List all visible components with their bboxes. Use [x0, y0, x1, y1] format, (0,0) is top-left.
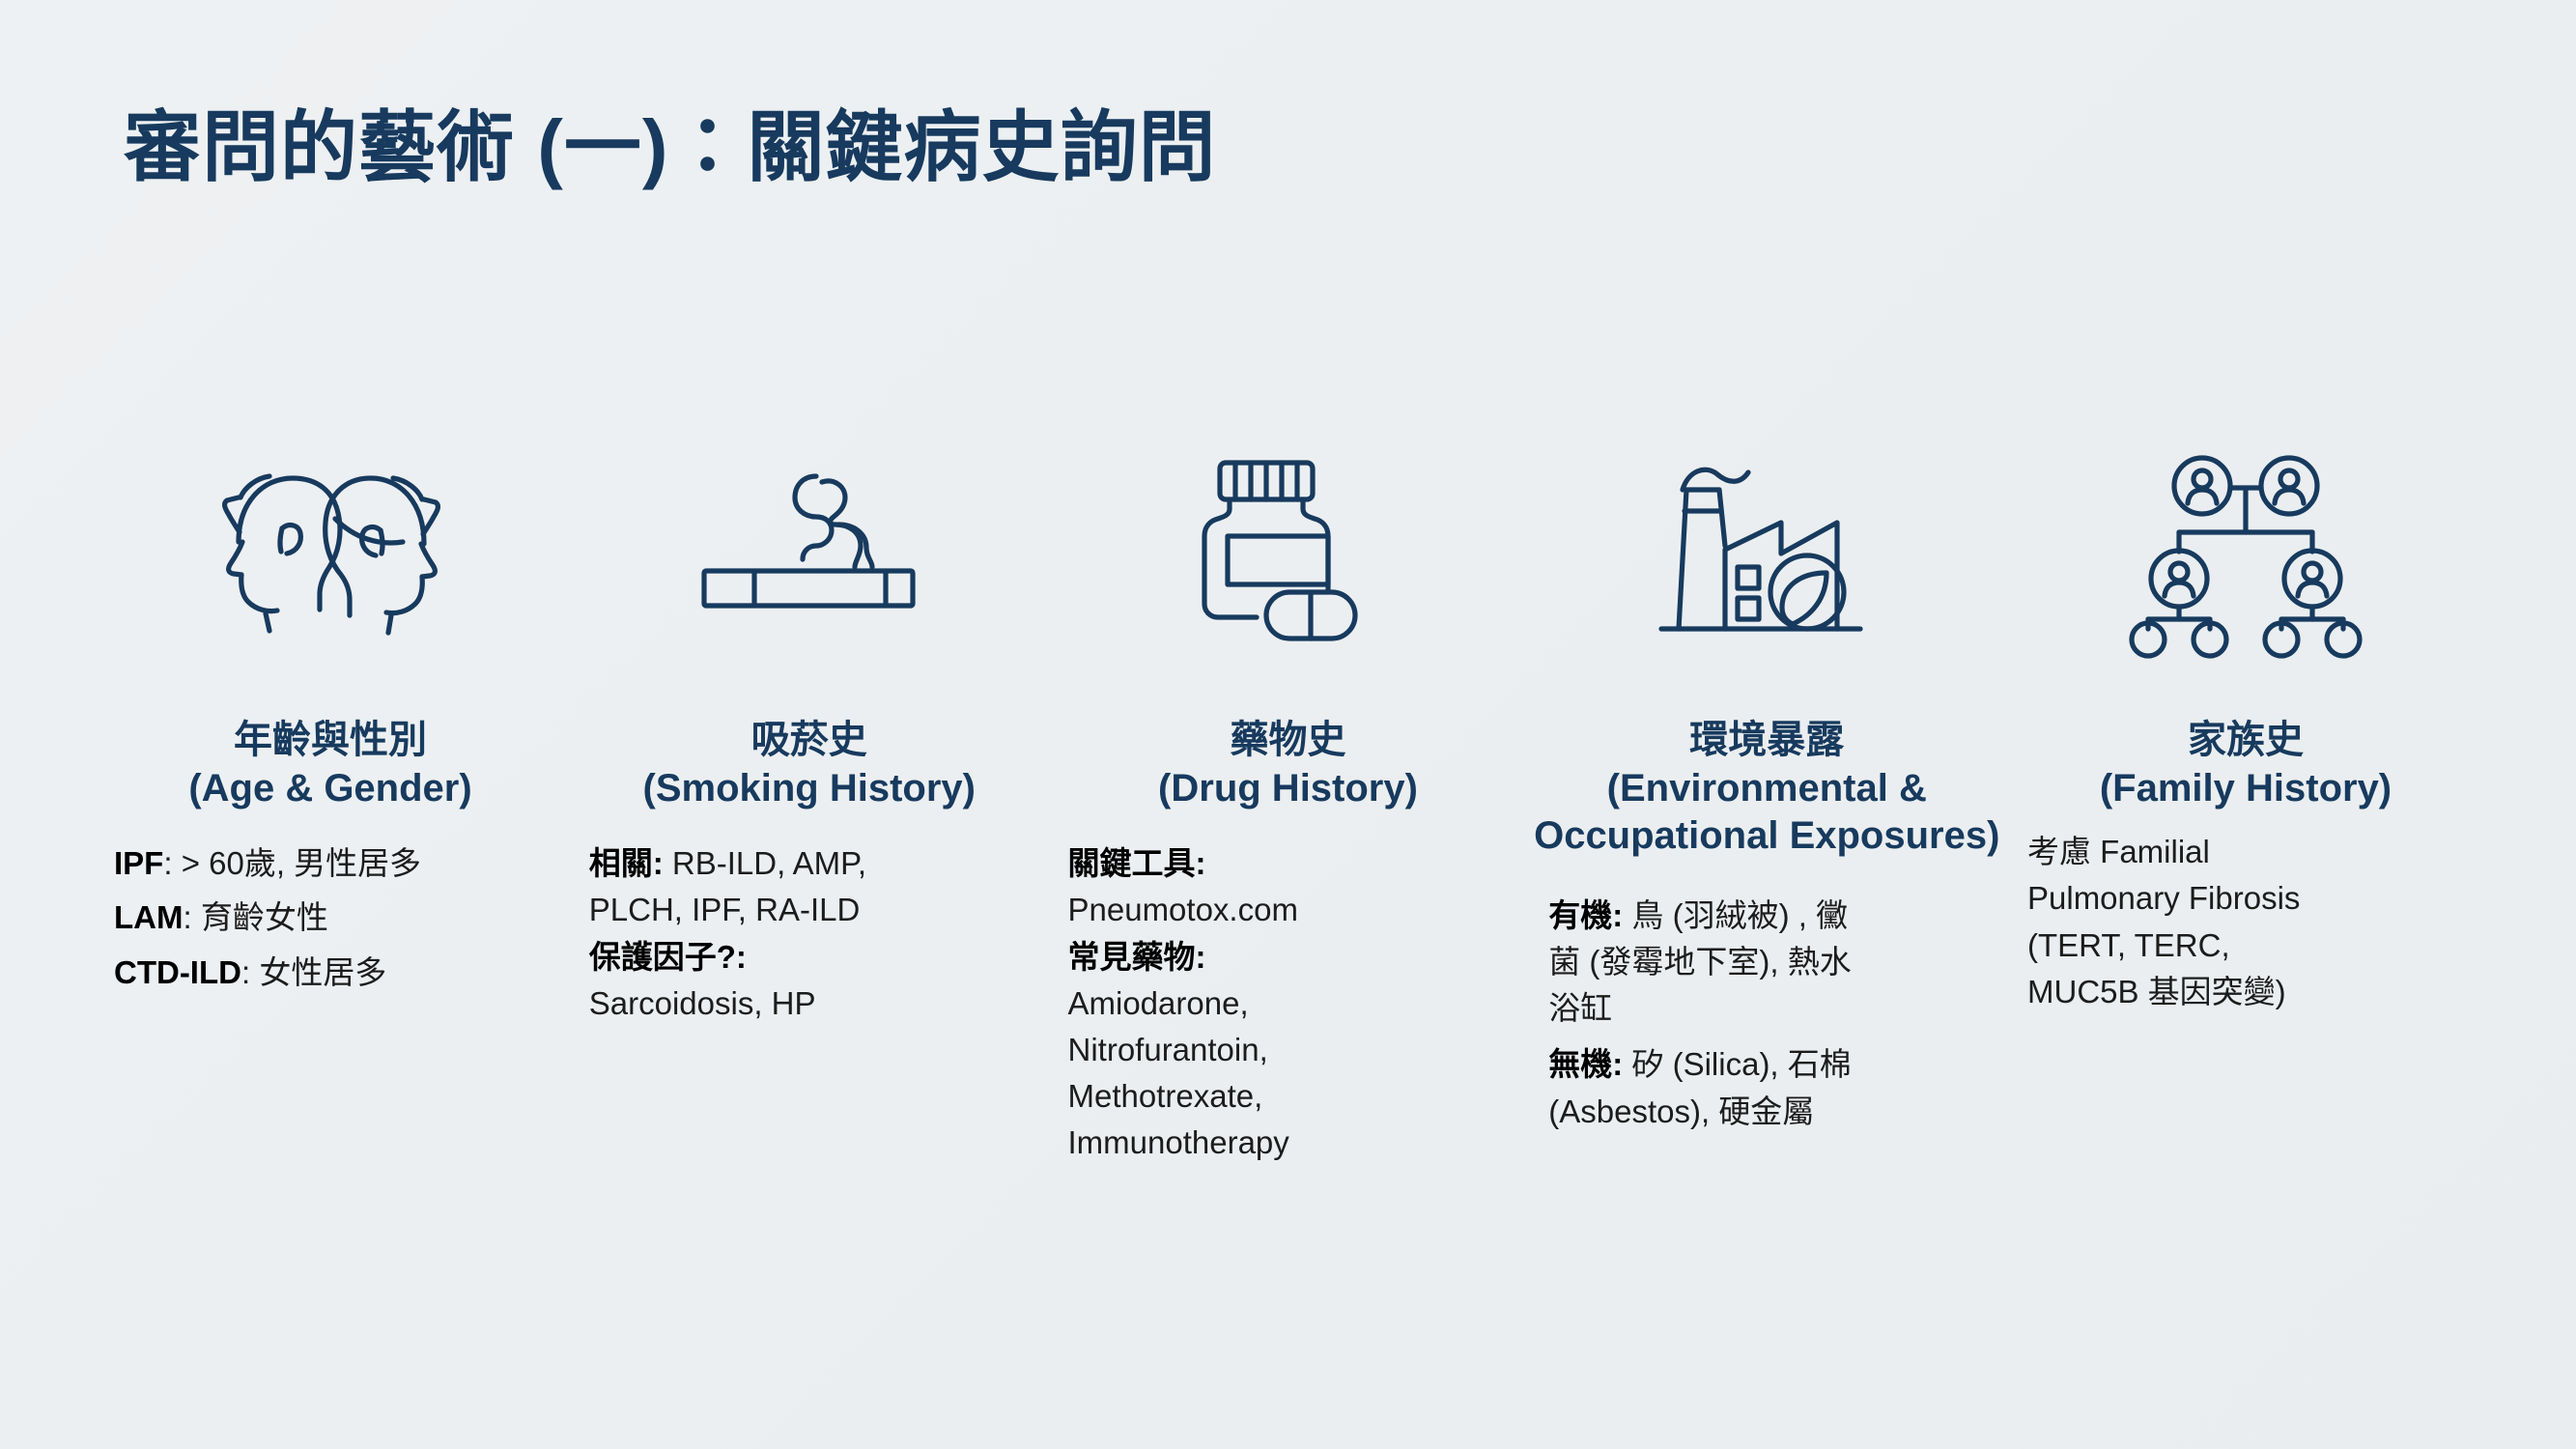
body-text: 鳥 (羽絨被) , 黴 [1631, 897, 1848, 933]
heading-zh: 藥物史 [1055, 717, 1522, 765]
body-line: 無機: 矽 (Silica), 石棉 [1548, 1042, 1991, 1087]
body-line: Immunotherapy [1068, 1121, 1513, 1165]
family-tree-icon [2008, 406, 2483, 696]
body-label: CTD-ILD [114, 954, 241, 990]
body-text: Pneumotox.com [1068, 892, 1298, 927]
body-line: (Asbestos), 硬金屬 [1548, 1090, 1991, 1134]
body-label: 相關: [589, 845, 664, 881]
body-text: 浴缸 [1548, 990, 1612, 1026]
body-text: 育齡女性 [201, 899, 328, 935]
body-line: 保護因子?: [589, 935, 1033, 980]
body-text: 女性居多 [259, 954, 386, 990]
body-label: 有機: [1548, 897, 1623, 933]
cigarette-smoke-icon [572, 406, 1047, 696]
body-label: LAM [114, 899, 183, 935]
body-sep [664, 845, 672, 881]
body-text: RB-ILD, AMP, [672, 845, 866, 881]
body-sep: : [183, 899, 200, 935]
body-text: Pulmonary Fibrosis [2027, 880, 2300, 916]
body-text: 矽 (Silica), 石棉 [1631, 1046, 1851, 1082]
page-title: 審問的藝術 (一)：關鍵病史詢問 [124, 104, 1217, 191]
body-text: Amiodarone, [1068, 985, 1249, 1021]
body-line: MUC5B 基因突變) [2027, 970, 2470, 1014]
two-faces-profile-icon [93, 406, 568, 696]
body-text: (TERT, TERC, [2027, 927, 2230, 963]
body-line: IPF: > 60歲, 男性居多 [114, 841, 554, 886]
body-line: Pulmonary Fibrosis [2027, 876, 2470, 921]
body-label: 常見藥物: [1068, 939, 1206, 975]
column-environmental-exposure: 環境暴露 (Environmental & Occupational Expos… [1529, 406, 2004, 1136]
heading-zh: 吸菸史 [576, 717, 1043, 765]
columns-container: 年齡與性別 (Age & Gender) IPF: > 60歲, 男性居多 LA… [93, 406, 2483, 1168]
body-text: PLCH, IPF, RA-ILD [589, 892, 861, 927]
body-text: 考慮 Familial [2027, 834, 2210, 869]
body-text: Methotrexate, [1068, 1078, 1263, 1114]
column-heading: 藥物史 (Drug History) [1051, 717, 1526, 812]
column-body: 相關: RB-ILD, AMP, PLCH, IPF, RA-ILD 保護因子?… [572, 841, 1047, 1028]
pill-bottle-icon [1051, 406, 1526, 696]
column-family-history: 家族史 (Family History) 考慮 Familial Pulmona… [2008, 406, 2483, 1016]
body-text: > 60歲, 男性居多 [182, 845, 421, 881]
body-line: 相關: RB-ILD, AMP, [589, 841, 1033, 886]
column-heading: 吸菸史 (Smoking History) [572, 717, 1047, 812]
body-line: (TERT, TERC, [2027, 923, 2470, 968]
body-label: 無機: [1548, 1046, 1623, 1082]
body-label: IPF [114, 845, 163, 881]
heading-en: (Smoking History) [576, 765, 1043, 813]
heading-en: (Family History) [2012, 765, 2479, 813]
column-smoking-history: 吸菸史 (Smoking History) 相關: RB-ILD, AMP, P… [572, 406, 1047, 1028]
body-line: Pneumotox.com [1068, 888, 1513, 932]
body-label: 保護因子?: [589, 939, 747, 975]
body-line: 菌 (發霉地下室), 熱水 [1548, 940, 1991, 984]
body-line: 浴缸 [1548, 986, 1991, 1031]
body-line: CTD-ILD: 女性居多 [114, 951, 554, 995]
body-line: 關鍵工具: [1068, 841, 1513, 886]
column-body: 考慮 Familial Pulmonary Fibrosis (TERT, TE… [2008, 830, 2483, 1016]
body-text: Nitrofurantoin, [1068, 1032, 1268, 1067]
column-age-gender: 年齡與性別 (Age & Gender) IPF: > 60歲, 男性居多 LA… [93, 406, 568, 1005]
column-heading: 年齡與性別 (Age & Gender) [93, 717, 568, 812]
column-body: 關鍵工具: Pneumotox.com 常見藥物: Amiodarone, Ni… [1051, 841, 1526, 1167]
body-line: Sarcoidosis, HP [589, 981, 1033, 1026]
heading-en: (Drug History) [1055, 765, 1522, 813]
heading-zh: 環境暴露 [1533, 717, 2000, 765]
body-line: Amiodarone, [1068, 981, 1513, 1026]
body-line: PLCH, IPF, RA-ILD [589, 888, 1033, 932]
body-text: Sarcoidosis, HP [589, 985, 816, 1021]
body-sep: : [241, 954, 259, 990]
column-drug-history: 藥物史 (Drug History) 關鍵工具: Pneumotox.com 常… [1051, 406, 1526, 1168]
body-line: Methotrexate, [1068, 1074, 1513, 1119]
heading-en: (Environmental & Occupational Exposures) [1533, 765, 2000, 861]
body-text: (Asbestos), 硬金屬 [1548, 1094, 1814, 1129]
body-line: 有機: 鳥 (羽絨被) , 黴 [1548, 894, 1991, 938]
body-line: LAM: 育齡女性 [114, 895, 554, 940]
column-heading: 家族史 (Family History) [2008, 717, 2483, 812]
heading-zh: 年齡與性別 [97, 717, 564, 765]
column-body: 有機: 鳥 (羽絨被) , 黴 菌 (發霉地下室), 熱水 浴缸 無機: 矽 (… [1529, 894, 2004, 1136]
body-line: 考慮 Familial [2027, 830, 2470, 874]
heading-zh: 家族史 [2012, 717, 2479, 765]
slide-root: 審問的藝術 (一)：關鍵病史詢問 [0, 0, 2576, 1449]
body-text: 菌 (發霉地下室), 熱水 [1548, 944, 1851, 980]
body-line: 常見藥物: [1068, 935, 1513, 980]
body-label: 關鍵工具: [1068, 845, 1206, 881]
heading-en: (Age & Gender) [97, 765, 564, 813]
body-text: Immunotherapy [1068, 1124, 1289, 1160]
body-line: Nitrofurantoin, [1068, 1028, 1513, 1072]
column-body: IPF: > 60歲, 男性居多 LAM: 育齡女性 CTD-ILD: 女性居多 [93, 841, 568, 1005]
factory-eco-icon [1529, 406, 2004, 696]
column-heading: 環境暴露 (Environmental & Occupational Expos… [1529, 717, 2004, 861]
body-sep: : [163, 845, 181, 881]
body-text: MUC5B 基因突變) [2027, 974, 2286, 1009]
